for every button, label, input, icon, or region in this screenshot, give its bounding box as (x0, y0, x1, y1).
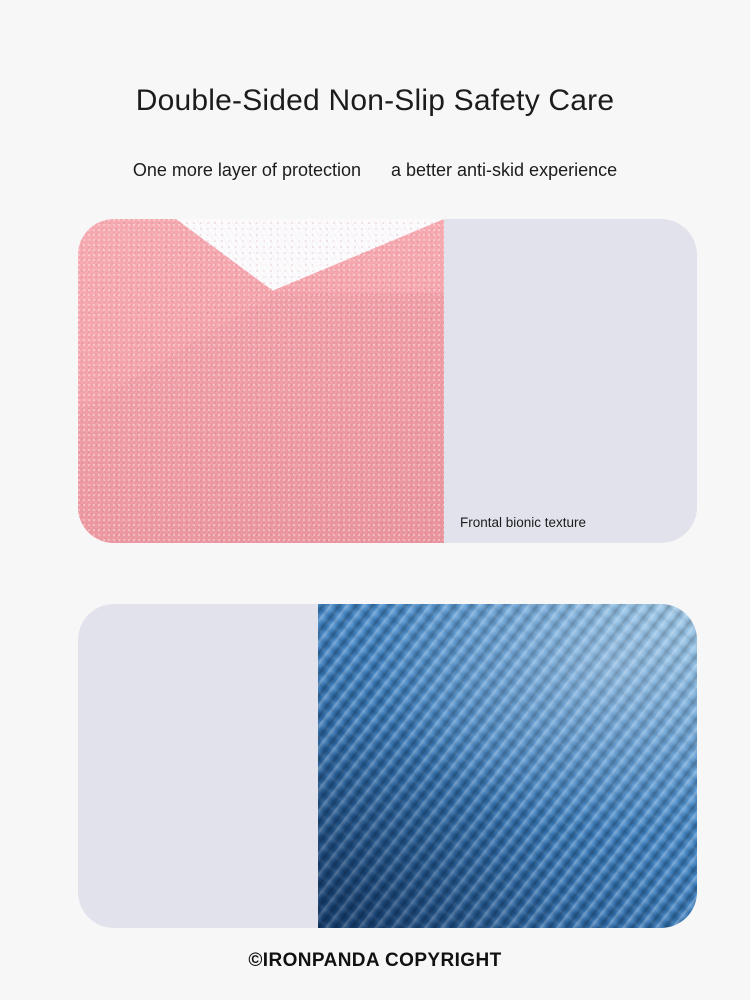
back-mat-photo (318, 604, 697, 928)
wave-sheen-overlay (318, 604, 697, 928)
wave-ridge-texture (318, 604, 697, 928)
page-subtitle: One more layer of protection a better an… (0, 160, 750, 181)
copyright-notice: ©IRONPANDA COPYRIGHT (0, 950, 750, 972)
caption-line-primary: Frontal bionic texture (460, 511, 630, 535)
front-side-panel: Frontal bionic texture Fits skin soft an… (78, 219, 697, 543)
front-mat-photo (78, 219, 444, 543)
front-side-caption: Frontal bionic texture Fits skin soft an… (460, 463, 630, 543)
back-side-panel: Reverse wave pattern Ground adsorption a… (78, 604, 697, 928)
product-feature-page: Double-Sided Non-Slip Safety Care One mo… (0, 0, 750, 1000)
wave-cross-texture (318, 604, 697, 928)
page-title: Double-Sided Non-Slip Safety Care (0, 84, 750, 118)
